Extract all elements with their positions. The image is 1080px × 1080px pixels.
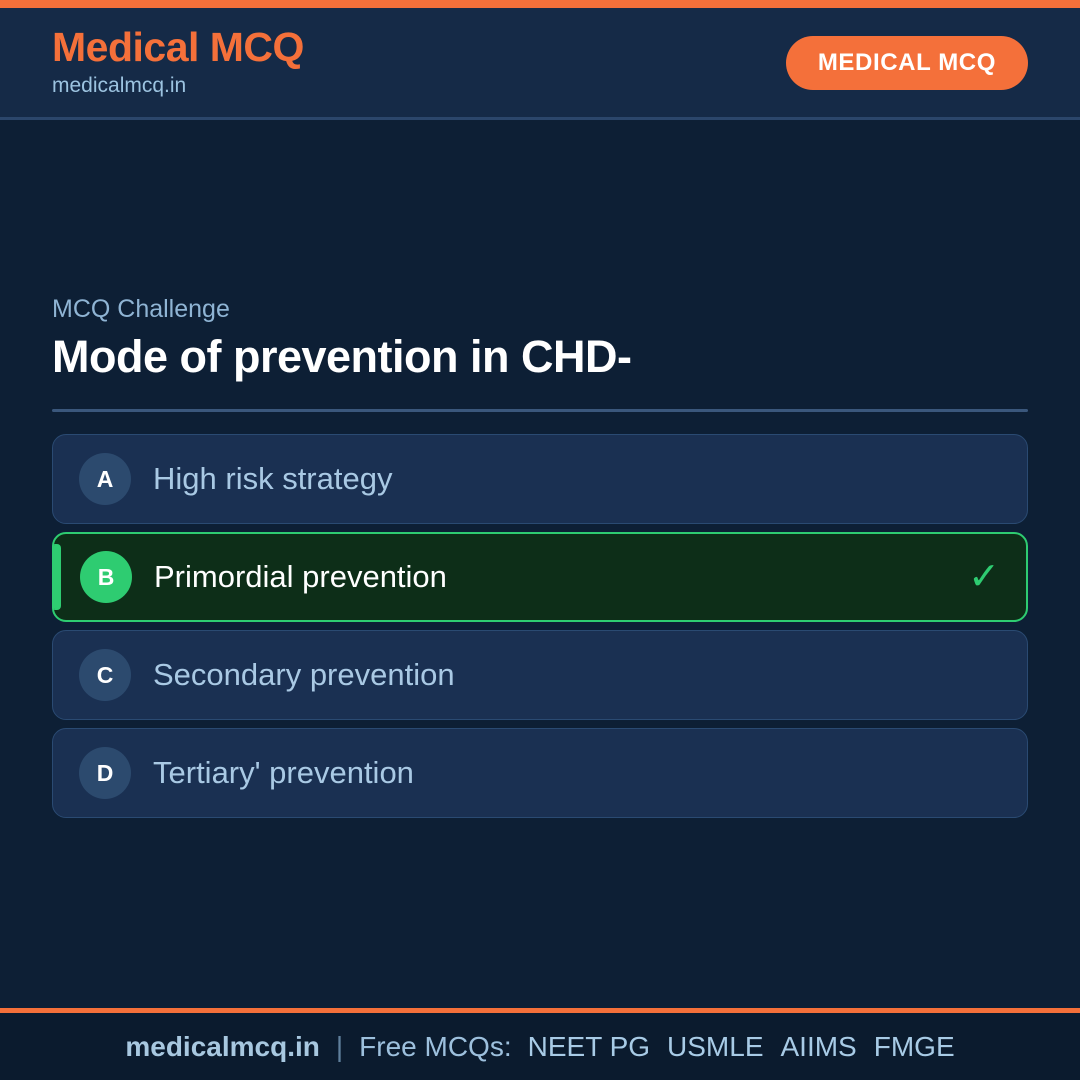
footer-exam: NEET PG [528, 1031, 650, 1063]
option-label: High risk strategy [153, 460, 987, 497]
option-letter-badge: C [79, 649, 131, 701]
top-accent-bar [0, 0, 1080, 8]
brand-title: Medical MCQ [52, 26, 304, 69]
check-icon: ✓ [968, 558, 1000, 596]
option-b[interactable]: BPrimordial prevention✓ [52, 532, 1028, 622]
options-list: AHigh risk strategyBPrimordial preventio… [52, 434, 1028, 818]
footer-label: Free MCQs: [359, 1031, 511, 1063]
title-divider [52, 409, 1028, 412]
footer-site[interactable]: medicalmcq.in [125, 1031, 320, 1063]
option-letter-badge: D [79, 747, 131, 799]
option-label: Tertiary' prevention [153, 754, 987, 791]
footer-exam-list: NEET PGUSMLEAIIMSFMGE [528, 1031, 955, 1063]
option-label: Secondary prevention [153, 656, 987, 693]
option-c[interactable]: CSecondary prevention [52, 630, 1028, 720]
footer-separator: | [336, 1031, 343, 1063]
page-header: Medical MCQ medicalmcq.in MEDICAL MCQ [0, 8, 1080, 120]
footer-exam: USMLE [667, 1031, 763, 1063]
mcq-card: Medical MCQ medicalmcq.in MEDICAL MCQ MC… [0, 0, 1080, 1080]
option-label: Primordial prevention [154, 558, 954, 595]
header-badge: MEDICAL MCQ [786, 36, 1028, 90]
option-a[interactable]: AHigh risk strategy [52, 434, 1028, 524]
brand: Medical MCQ medicalmcq.in [52, 26, 304, 99]
correct-accent-bar [54, 544, 61, 610]
question-text: Mode of prevention in CHD- [52, 330, 1028, 383]
page-footer: medicalmcq.in | Free MCQs: NEET PGUSMLEA… [0, 1008, 1080, 1080]
option-letter-badge: B [80, 551, 132, 603]
option-d[interactable]: DTertiary' prevention [52, 728, 1028, 818]
option-letter-badge: A [79, 453, 131, 505]
brand-subtitle: medicalmcq.in [52, 72, 304, 99]
main-content: MCQ Challenge Mode of prevention in CHD-… [0, 120, 1080, 1008]
eyebrow-label: MCQ Challenge [52, 294, 1028, 324]
footer-exam: AIIMS [781, 1031, 857, 1063]
footer-exam: FMGE [874, 1031, 955, 1063]
